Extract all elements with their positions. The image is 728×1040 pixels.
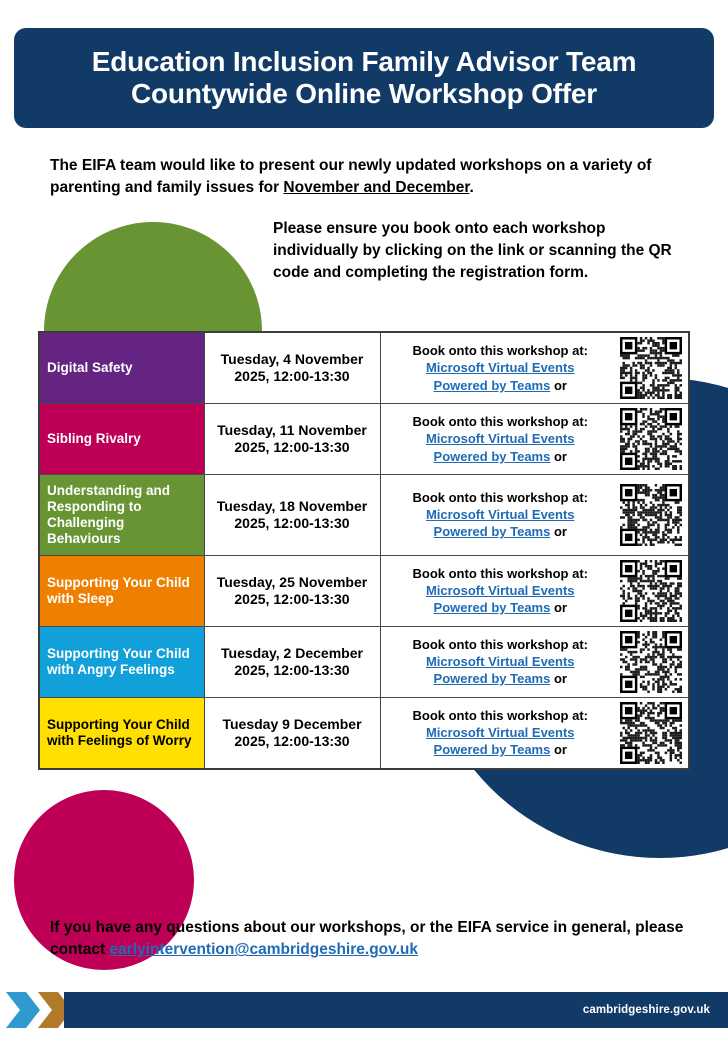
booking-text: Book onto this workshop at:Microsoft Vir…	[387, 565, 615, 616]
booking-link[interactable]: Microsoft Virtual EventsPowered by Teams	[426, 360, 575, 392]
table-row: Supporting Your Child with Feelings of W…	[39, 697, 689, 769]
booking-suffix: or	[554, 742, 567, 757]
booking-link[interactable]: Microsoft Virtual EventsPowered by Teams	[426, 431, 575, 463]
workshop-booking-cell: Book onto this workshop at:Microsoft Vir…	[380, 332, 689, 404]
booking-prefix: Book onto this workshop at:	[413, 490, 589, 505]
workshop-date-cell: Tuesday, 2 December 2025, 12:00-13:30	[204, 626, 380, 697]
poster-page: Education Inclusion Family Advisor Team …	[0, 0, 728, 1040]
page-title: Education Inclusion Family Advisor Team …	[92, 46, 637, 109]
contact-email-link[interactable]: earlyintervention@cambridgeshire.gov.uk	[109, 941, 418, 958]
workshop-topic-cell: Understanding and Responding to Challeng…	[39, 475, 204, 556]
workshop-date-cell: Tuesday 9 December 2025, 12:00-13:30	[204, 697, 380, 769]
booking-suffix: or	[554, 378, 567, 393]
workshop-booking-cell: Book onto this workshop at:Microsoft Vir…	[380, 404, 689, 475]
table-row: Understanding and Responding to Challeng…	[39, 475, 689, 556]
qr-code-icon[interactable]	[620, 560, 682, 622]
qr-code-icon[interactable]	[620, 631, 682, 693]
booking-text: Book onto this workshop at:Microsoft Vir…	[387, 413, 615, 464]
workshop-table-body: Digital SafetyTuesday, 4 November 2025, …	[39, 332, 689, 769]
footer-website-url: cambridgeshire.gov.uk	[583, 1004, 710, 1016]
workshop-booking-cell: Book onto this workshop at:Microsoft Vir…	[380, 626, 689, 697]
booking-inner: Book onto this workshop at:Microsoft Vir…	[387, 560, 683, 622]
booking-suffix: or	[554, 449, 567, 464]
booking-inner: Book onto this workshop at:Microsoft Vir…	[387, 631, 683, 693]
booking-link-line1: Microsoft Virtual Events	[426, 654, 575, 669]
workshop-date-cell: Tuesday, 11 November 2025, 12:00-13:30	[204, 404, 380, 475]
contact-paragraph: If you have any questions about our work…	[50, 917, 690, 962]
booking-link-line1: Microsoft Virtual Events	[426, 725, 575, 740]
booking-prefix: Book onto this workshop at:	[413, 708, 589, 723]
booking-link-line1: Microsoft Virtual Events	[426, 360, 575, 375]
booking-suffix: or	[554, 671, 567, 686]
booking-prefix: Book onto this workshop at:	[413, 343, 589, 358]
workshop-topic-cell: Supporting Your Child with Sleep	[39, 555, 204, 626]
table-row: Digital SafetyTuesday, 4 November 2025, …	[39, 332, 689, 404]
workshop-topic-cell: Digital Safety	[39, 332, 204, 404]
workshop-booking-cell: Book onto this workshop at:Microsoft Vir…	[380, 555, 689, 626]
booking-prefix: Book onto this workshop at:	[413, 637, 589, 652]
intro-tail: .	[470, 179, 474, 196]
table-row: Supporting Your Child with Angry Feeling…	[39, 626, 689, 697]
workshop-booking-cell: Book onto this workshop at:Microsoft Vir…	[380, 697, 689, 769]
booking-link-line1: Microsoft Virtual Events	[426, 431, 575, 446]
booking-text: Book onto this workshop at:Microsoft Vir…	[387, 342, 615, 393]
booking-link-line2: Powered by Teams	[434, 671, 551, 686]
booking-link[interactable]: Microsoft Virtual EventsPowered by Teams	[426, 654, 575, 686]
booking-link[interactable]: Microsoft Virtual EventsPowered by Teams	[426, 725, 575, 757]
workshop-date-cell: Tuesday, 18 November 2025, 12:00-13:30	[204, 475, 380, 556]
booking-instructions: Please ensure you book onto each worksho…	[273, 218, 673, 284]
booking-link-line1: Microsoft Virtual Events	[426, 507, 575, 522]
booking-inner: Book onto this workshop at:Microsoft Vir…	[387, 337, 683, 399]
header-banner: Education Inclusion Family Advisor Team …	[14, 28, 714, 128]
booking-link-line2: Powered by Teams	[434, 449, 551, 464]
footer-bar: cambridgeshire.gov.uk	[64, 992, 728, 1028]
table-row: Supporting Your Child with SleepTuesday,…	[39, 555, 689, 626]
qr-code-icon[interactable]	[620, 337, 682, 399]
workshop-topic-cell: Sibling Rivalry	[39, 404, 204, 475]
booking-inner: Book onto this workshop at:Microsoft Vir…	[387, 702, 683, 764]
intro-paragraph: The EIFA team would like to present our …	[50, 155, 670, 200]
booking-link-line2: Powered by Teams	[434, 600, 551, 615]
workshop-topic-cell: Supporting Your Child with Angry Feeling…	[39, 626, 204, 697]
intro-emphasis-months: November and December	[283, 179, 469, 196]
booking-suffix: or	[554, 600, 567, 615]
booking-prefix: Book onto this workshop at:	[413, 566, 589, 581]
qr-code-icon[interactable]	[620, 702, 682, 764]
qr-code-icon[interactable]	[620, 484, 682, 546]
booking-text: Book onto this workshop at:Microsoft Vir…	[387, 636, 615, 687]
qr-code-icon[interactable]	[620, 408, 682, 470]
booking-link[interactable]: Microsoft Virtual EventsPowered by Teams	[426, 583, 575, 615]
table-row: Sibling RivalryTuesday, 11 November 2025…	[39, 404, 689, 475]
booking-suffix: or	[554, 524, 567, 539]
workshop-schedule-table: Digital SafetyTuesday, 4 November 2025, …	[38, 331, 690, 770]
booking-link-line2: Powered by Teams	[434, 742, 551, 757]
booking-text: Book onto this workshop at:Microsoft Vir…	[387, 489, 615, 540]
booking-link[interactable]: Microsoft Virtual EventsPowered by Teams	[426, 507, 575, 539]
booking-link-line1: Microsoft Virtual Events	[426, 583, 575, 598]
booking-inner: Book onto this workshop at:Microsoft Vir…	[387, 484, 683, 546]
booking-link-line2: Powered by Teams	[434, 378, 551, 393]
booking-text: Book onto this workshop at:Microsoft Vir…	[387, 707, 615, 758]
workshop-booking-cell: Book onto this workshop at:Microsoft Vir…	[380, 475, 689, 556]
workshop-topic-cell: Supporting Your Child with Feelings of W…	[39, 697, 204, 769]
footer: cambridgeshire.gov.uk	[0, 988, 728, 1032]
booking-prefix: Book onto this workshop at:	[413, 414, 589, 429]
chevron-left-blue-icon	[6, 992, 40, 1028]
booking-inner: Book onto this workshop at:Microsoft Vir…	[387, 408, 683, 470]
booking-link-line2: Powered by Teams	[434, 524, 551, 539]
workshop-date-cell: Tuesday, 25 November 2025, 12:00-13:30	[204, 555, 380, 626]
workshop-date-cell: Tuesday, 4 November 2025, 12:00-13:30	[204, 332, 380, 404]
